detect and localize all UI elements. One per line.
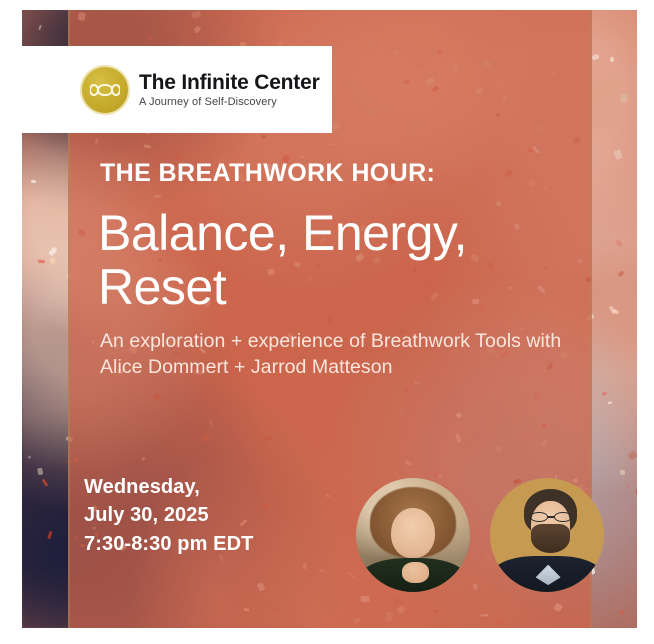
glasses-icon	[530, 512, 572, 522]
infinity-circle-icon	[82, 67, 128, 113]
portrait-hand	[402, 562, 429, 583]
brand-tagline: A Journey of Self-Discovery	[139, 97, 320, 108]
speaker-portrait-left	[356, 478, 470, 592]
frame-left	[0, 0, 22, 644]
event-flyer: The Infinite Center A Journey of Self-Di…	[0, 0, 654, 644]
event-eyebrow: THE BREATHWORK HOUR:	[100, 160, 580, 188]
logo-bar[interactable]: The Infinite Center A Journey of Self-Di…	[22, 46, 332, 133]
brand-name: The Infinite Center	[139, 72, 320, 93]
portrait-beard	[531, 524, 570, 554]
event-description: An exploration + experience of Breathwor…	[100, 328, 580, 382]
portrait-face	[391, 508, 434, 558]
logo-text-block: The Infinite Center A Journey of Self-Di…	[139, 72, 320, 108]
event-copy: THE BREATHWORK HOUR: Balance, Energy, Re…	[100, 160, 580, 381]
event-datetime: Wednesday, July 30, 2025 7:30-8:30 pm ED…	[84, 473, 253, 558]
frame-top	[0, 0, 654, 10]
frame-right	[637, 0, 654, 644]
event-date-full: July 30, 2025	[84, 501, 253, 529]
page-title: Balance, Energy, Reset	[98, 206, 580, 314]
event-time: 7:30-8:30 pm EDT	[84, 530, 253, 558]
frame-bottom	[0, 628, 654, 644]
speaker-portrait-right	[490, 478, 604, 592]
event-date-day: Wednesday,	[84, 473, 253, 501]
